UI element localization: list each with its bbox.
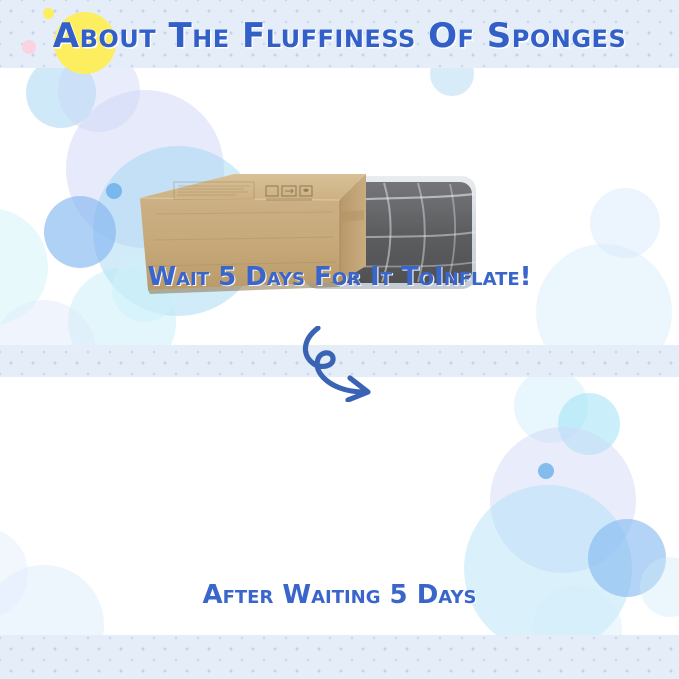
bubble	[0, 300, 96, 345]
bubble	[538, 463, 554, 479]
bubble	[58, 68, 140, 132]
bubble	[558, 393, 620, 455]
bubble	[26, 68, 96, 128]
bubble	[430, 68, 474, 96]
page-title: About The Fluffiness Of Sponges	[0, 0, 679, 72]
bubble	[536, 244, 672, 345]
bubble	[514, 377, 588, 443]
bubble	[590, 188, 660, 258]
bubble	[464, 485, 632, 635]
caption-after: After Waiting 5 Days	[0, 580, 679, 610]
bubble	[106, 183, 122, 199]
panel-before	[0, 68, 679, 345]
infographic-canvas: Wait 5 Days For It ToInflate! After Wait…	[0, 0, 679, 679]
header-bar: About The Fluffiness Of Sponges	[0, 0, 679, 72]
bubble	[44, 196, 116, 268]
curly-arrow-down-right-icon	[288, 326, 408, 402]
caption-before: Wait 5 Days For It ToInflate!	[0, 262, 679, 292]
bubble	[490, 427, 636, 573]
